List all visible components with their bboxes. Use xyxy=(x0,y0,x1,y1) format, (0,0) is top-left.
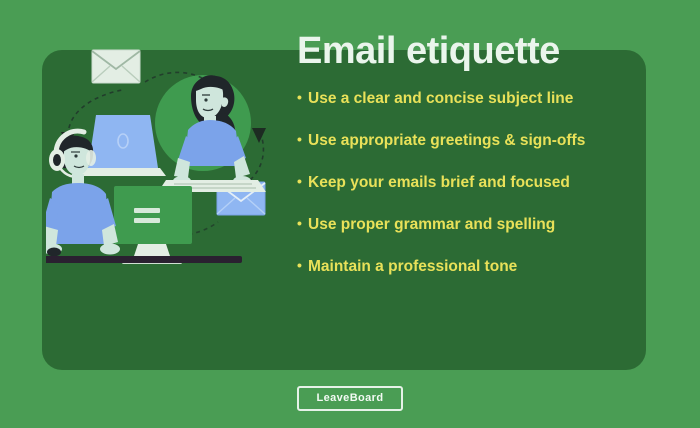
list-item: Use proper grammar and spelling xyxy=(297,216,637,233)
poster-canvas: Email etiquette Use a clear and concise … xyxy=(0,0,700,428)
envelope-white-icon xyxy=(92,50,140,83)
desk-surface xyxy=(46,256,242,263)
text-column: Email etiquette Use a clear and concise … xyxy=(297,32,637,275)
monitor-green-icon xyxy=(114,186,192,264)
two-people-emailing-illustration xyxy=(46,40,286,280)
list-item: Use appropriate greetings & sign-offs xyxy=(297,132,637,149)
footer-brand-area: LeaveBoard xyxy=(0,386,700,411)
tips-list: Use a clear and concise subject line Use… xyxy=(297,90,637,275)
list-item: Maintain a professional tone xyxy=(297,258,637,275)
list-item: Keep your emails brief and focused xyxy=(297,174,637,191)
brand-badge[interactable]: LeaveBoard xyxy=(297,386,404,411)
page-title: Email etiquette xyxy=(297,32,637,72)
laptop-blue-icon xyxy=(80,115,166,176)
list-item: Use a clear and concise subject line xyxy=(297,90,637,107)
